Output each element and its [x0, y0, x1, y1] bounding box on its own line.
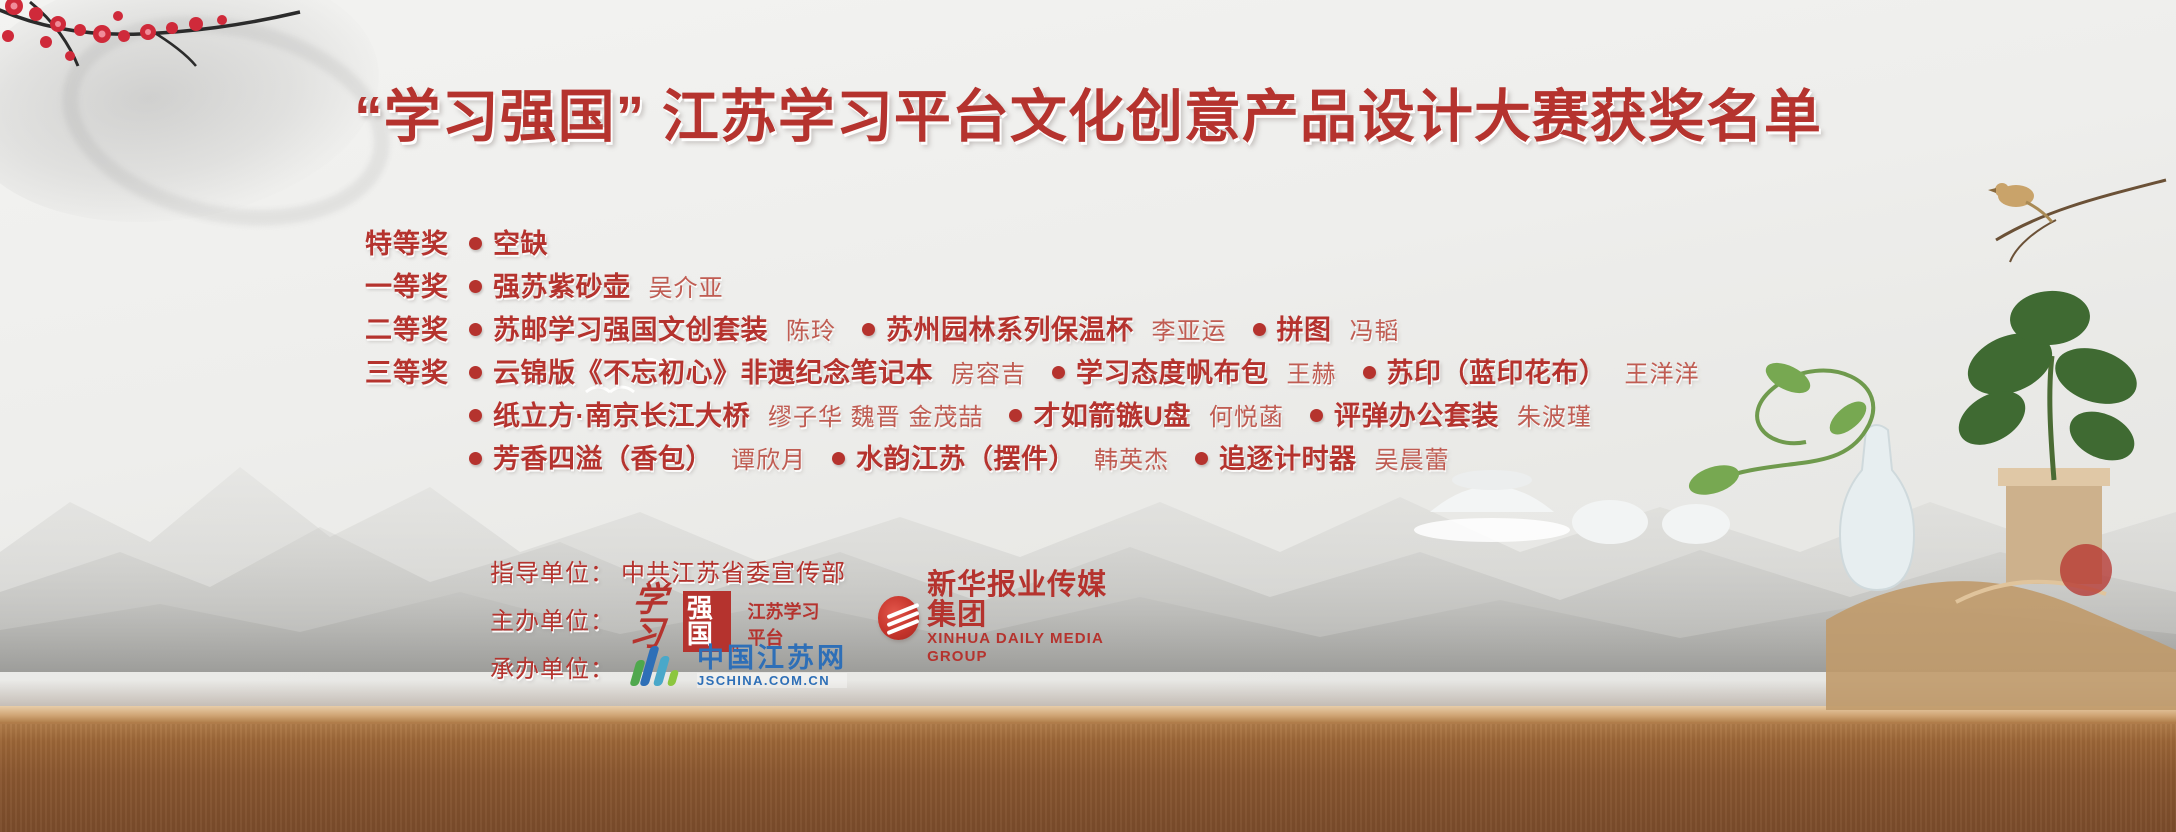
jschina-en-text: JSCHINA.COM.CN	[697, 673, 847, 688]
award-entry: 云锦版《不忘初心》非遗纪念笔记本 房容吉	[469, 351, 1026, 390]
wood-grain-texture	[0, 724, 2176, 832]
award-work: 追逐计时器	[1219, 437, 1357, 476]
award-work: 强苏紫砂壶	[493, 265, 631, 304]
xuexi-script-text: 学习	[627, 584, 684, 652]
award-entries: 纸立方·南京长江大桥 缪子华 魏晋 金茂喆 才如箭镞U盘 何悦菡 评弹办公套装 …	[469, 394, 1592, 433]
award-label: 二等奖	[365, 308, 469, 347]
award-work: 才如箭镞U盘	[1033, 394, 1191, 433]
award-entry: 苏州园林系列保温杯 李亚运	[862, 308, 1227, 347]
award-author: 缪子华 魏晋 金茂喆	[768, 397, 983, 432]
award-row: 二等奖 苏邮学习强国文创套装 陈玲 苏州园林系列保温杯 李亚运 拼图	[365, 308, 1925, 351]
jschina-mark-icon	[631, 644, 687, 688]
organizer-credits: 指导单位： 中共江苏省委宣传部 主办单位： 学习 强国 xuexi.cn 江苏学…	[0, 548, 1120, 692]
award-entry: 纸立方·南京长江大桥 缪子华 魏晋 金茂喆	[469, 394, 983, 433]
xinhua-mark-icon	[878, 596, 919, 640]
bullet-icon	[469, 280, 482, 293]
award-row: 一等奖 强苏紫砂壶 吴介亚	[365, 265, 1925, 308]
award-work: 拼图	[1277, 308, 1332, 347]
award-row: 特等奖 空缺	[365, 222, 1925, 265]
host-unit-label: 主办单位：	[490, 601, 615, 636]
bullet-icon	[862, 323, 875, 336]
award-author: 冯韬	[1350, 311, 1400, 346]
bullet-icon	[469, 323, 482, 336]
award-entry: 苏邮学习强国文创套装 陈玲	[469, 308, 836, 347]
award-author: 何悦菡	[1209, 397, 1284, 432]
award-entry: 芳香四溢（香包） 谭欣月	[469, 437, 806, 476]
award-author: 谭欣月	[731, 440, 806, 475]
award-author: 房容吉	[951, 354, 1026, 389]
xinhua-text-block: 新华报业传媒集团 XINHUA DAILY MEDIA GROUP	[927, 570, 1120, 667]
bullet-icon	[1363, 366, 1376, 379]
award-author: 韩英杰	[1094, 440, 1169, 475]
award-entry: 才如箭镞U盘 何悦菡	[1009, 394, 1284, 433]
award-row: 纸立方·南京长江大桥 缪子华 魏晋 金茂喆 才如箭镞U盘 何悦菡 评弹办公套装 …	[365, 394, 1925, 437]
bullet-icon	[1310, 409, 1323, 422]
xuexi-logo: 学习 强国 xuexi.cn 江苏学习平台	[631, 584, 832, 652]
award-list: 特等奖 空缺 一等奖 强苏紫砂壶 吴介亚	[365, 222, 1925, 480]
bullet-icon	[1009, 409, 1022, 422]
organizer-unit-label: 承办单位：	[490, 649, 615, 684]
jschina-text-block: 中国江苏网 JSCHINA.COM.CN	[697, 644, 847, 689]
award-author: 朱波瑾	[1517, 397, 1592, 432]
bullet-icon	[1253, 323, 1266, 336]
xinhua-logo: 新华报业传媒集团 XINHUA DAILY MEDIA GROUP	[878, 570, 1120, 667]
bullet-icon	[469, 366, 482, 379]
award-author: 李亚运	[1152, 311, 1227, 346]
award-row: 芳香四溢（香包） 谭欣月 水韵江苏（摆件） 韩英杰 追逐计时器 吴晨蕾	[365, 437, 1925, 480]
bullet-icon	[1195, 452, 1208, 465]
award-author: 王赫	[1287, 354, 1337, 389]
xinhua-en-text: XINHUA DAILY MEDIA GROUP	[927, 630, 1120, 666]
award-label: 特等奖	[365, 222, 469, 261]
award-entries: 芳香四溢（香包） 谭欣月 水韵江苏（摆件） 韩英杰 追逐计时器 吴晨蕾	[469, 437, 1450, 476]
jschina-cn-text: 中国江苏网	[697, 644, 847, 674]
wood-table	[0, 706, 2176, 832]
award-work: 苏州园林系列保温杯	[886, 308, 1134, 347]
award-entry: 学习态度帆布包 王赫	[1052, 351, 1337, 390]
award-entry: 拼图 冯韬	[1253, 308, 1400, 347]
award-entry: 追逐计时器 吴晨蕾	[1195, 437, 1450, 476]
bullet-icon	[469, 237, 482, 250]
award-row: 三等奖 云锦版《不忘初心》非遗纪念笔记本 房容吉 学习态度帆布包 王赫 苏	[365, 351, 1925, 394]
award-work: 水韵江苏（摆件）	[856, 437, 1076, 476]
award-work: 云锦版《不忘初心》非遗纪念笔记本	[493, 351, 933, 390]
bullet-icon	[469, 409, 482, 422]
poster-banner: “学习强国” 江苏学习平台文化创意产品设计大赛获奖名单 特等奖 空缺 一等奖	[0, 0, 2176, 832]
page-title: “学习强国” 江苏学习平台文化创意产品设计大赛获奖名单	[0, 88, 2176, 148]
award-work: 苏印（蓝印花布）	[1387, 351, 1607, 390]
guidance-unit-label: 指导单位：	[490, 553, 615, 588]
award-label: 三等奖	[365, 351, 469, 390]
xinhua-cn-text: 新华报业传媒集团	[927, 570, 1120, 631]
jschina-logo: 中国江苏网 JSCHINA.COM.CN	[631, 644, 847, 689]
award-entry: 强苏紫砂壶 吴介亚	[469, 265, 724, 304]
award-entry: 空缺	[469, 222, 566, 261]
award-entry: 苏印（蓝印花布） 王洋洋	[1363, 351, 1700, 390]
bullet-icon	[832, 452, 845, 465]
award-entries: 苏邮学习强国文创套装 陈玲 苏州园林系列保温杯 李亚运 拼图 冯韬	[469, 308, 1400, 347]
award-entries: 空缺	[469, 222, 566, 261]
bullet-icon	[469, 452, 482, 465]
award-work: 学习态度帆布包	[1076, 351, 1269, 390]
award-author: 吴介亚	[649, 268, 724, 303]
award-work: 空缺	[493, 222, 548, 261]
award-label: 一等奖	[365, 265, 469, 304]
host-unit-row: 主办单位： 学习 强国 xuexi.cn 江苏学习平台 新华报业传媒集团 XIN…	[0, 596, 1120, 640]
award-work: 芳香四溢（香包）	[493, 437, 713, 476]
award-author: 吴晨蕾	[1375, 440, 1450, 475]
award-work: 苏邮学习强国文创套装	[493, 308, 768, 347]
award-entries: 云锦版《不忘初心》非遗纪念笔记本 房容吉 学习态度帆布包 王赫 苏印（蓝印花布）…	[469, 351, 1700, 390]
award-entries: 强苏紫砂壶 吴介亚	[469, 265, 724, 304]
award-work: 评弹办公套装	[1334, 394, 1499, 433]
award-author: 王洋洋	[1625, 354, 1700, 389]
award-work: 纸立方·南京长江大桥	[493, 394, 750, 433]
award-author: 陈玲	[786, 311, 836, 346]
bullet-icon	[1052, 366, 1065, 379]
award-entry: 水韵江苏（摆件） 韩英杰	[832, 437, 1169, 476]
award-entry: 评弹办公套装 朱波瑾	[1310, 394, 1592, 433]
